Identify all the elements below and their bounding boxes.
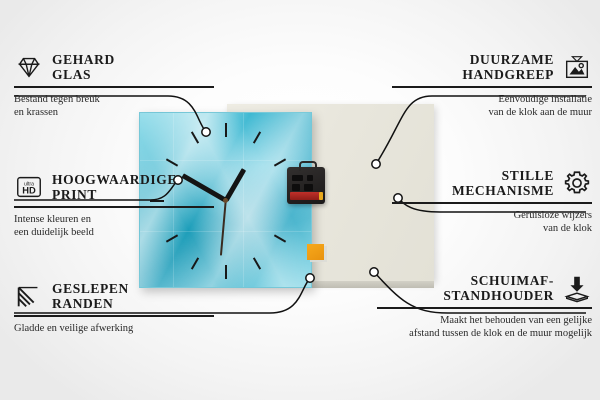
callout-hoogwaardige-print: ultra HD HOOGWAARDIGE PRINT Intense kleu… [14,172,214,239]
beveled-edges-icon [14,281,44,311]
infographic-canvas: GEHARD GLAS Bestand tegen breuk en krass… [0,0,600,400]
svg-text:HD: HD [22,186,36,196]
callout-title: GEHARD GLAS [52,52,115,82]
callout-title: STILLE MECHANISME [452,168,554,198]
callout-stille-mechanisme: STILLE MECHANISME Geruisloze wijzers van… [392,168,592,235]
ultra-hd-icon: ultra HD [14,172,44,202]
callout-schuimaf-standhouder: SCHUIMAF- STANDHOUDER Maakt het behouden… [377,273,592,340]
connector-dot-geslepen-randen [306,274,314,282]
callout-divider [392,86,592,88]
callout-header: GESLEPEN RANDEN [14,281,214,311]
callout-divider [14,206,214,208]
callout-header: GEHARD GLAS [14,52,214,82]
callout-divider [392,202,592,204]
callout-subtitle: Intense kleuren en een duidelijk beeld [14,213,214,239]
callout-subtitle: Maakt het behouden van een gelijke afsta… [377,314,592,340]
press-down-pad-icon [562,273,592,303]
callout-geslepen-randen: GESLEPEN RANDEN Gladde en veilige afwerk… [14,281,214,335]
picture-frame-icon [562,52,592,82]
callout-subtitle: Gladde en veilige afwerking [14,322,214,335]
callout-divider [14,86,214,88]
callout-title: HOOGWAARDIGE PRINT [52,172,177,202]
diamond-icon [14,52,44,82]
callout-divider [377,307,592,309]
connector-dot-duurzame-handgreep [372,160,380,168]
callout-title: SCHUIMAF- STANDHOUDER [443,273,554,303]
callout-subtitle: Bestand tegen breuk en krassen [14,93,214,119]
callout-header: ultra HD HOOGWAARDIGE PRINT [14,172,214,202]
callout-subtitle: Geruisloze wijzers van de klok [392,209,592,235]
callout-subtitle: Eenvoudige installatie van de klok aan d… [392,93,592,119]
callout-title: DUURZAME HANDGREEP [462,52,554,82]
gear-icon [562,168,592,198]
callout-title: GESLEPEN RANDEN [52,281,129,311]
connector-dot-gehard-glas [202,128,210,136]
callout-gehard-glas: GEHARD GLAS Bestand tegen breuk en krass… [14,52,214,119]
callout-divider [14,315,214,317]
callout-header: SCHUIMAF- STANDHOUDER [377,273,592,303]
callout-header: STILLE MECHANISME [392,168,592,198]
callout-duurzame-handgreep: DUURZAME HANDGREEP Eenvoudige installati… [392,52,592,119]
callout-header: DUURZAME HANDGREEP [392,52,592,82]
